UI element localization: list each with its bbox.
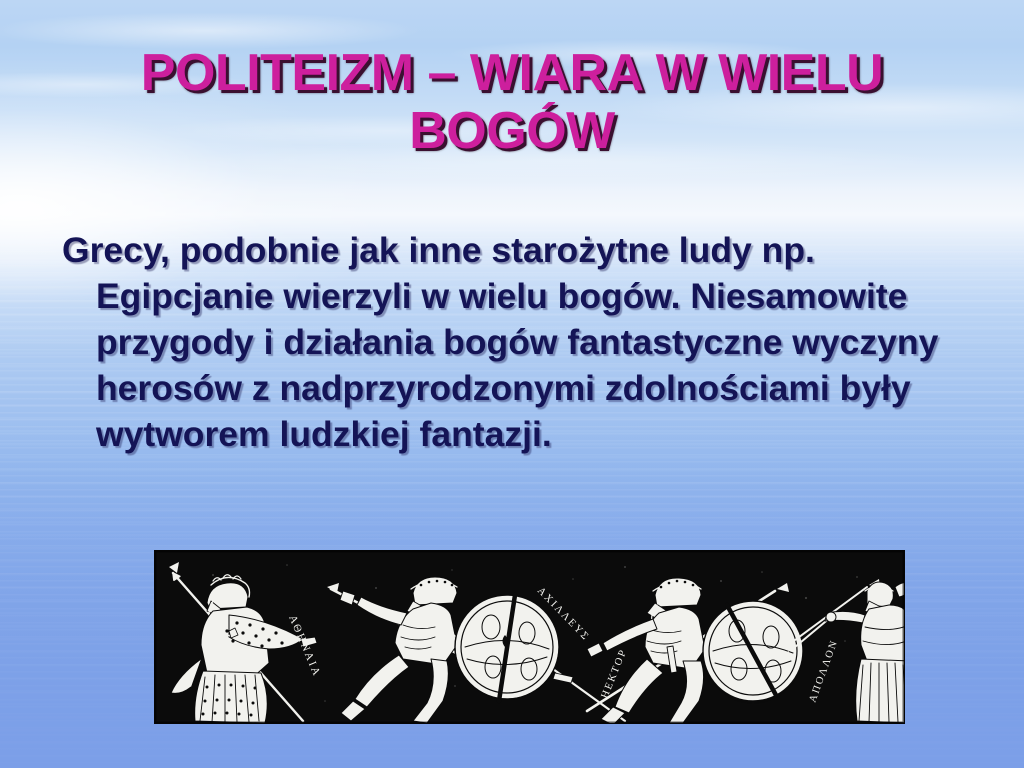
slide-canvas: POLITEIZM – WIARA W WIELU BOGÓW Grecy, p… <box>0 0 1024 768</box>
vase-frieze-drawing: ΑΘΗΝΑΙΑ <box>155 551 904 723</box>
slide-title: POLITEIZM – WIARA W WIELU BOGÓW <box>52 44 972 160</box>
slide-body-text: Grecy, podobnie jak inne starożytne ludy… <box>62 228 967 458</box>
greek-vase-frieze-image: ΑΘΗΝΑΙΑ <box>155 551 904 723</box>
